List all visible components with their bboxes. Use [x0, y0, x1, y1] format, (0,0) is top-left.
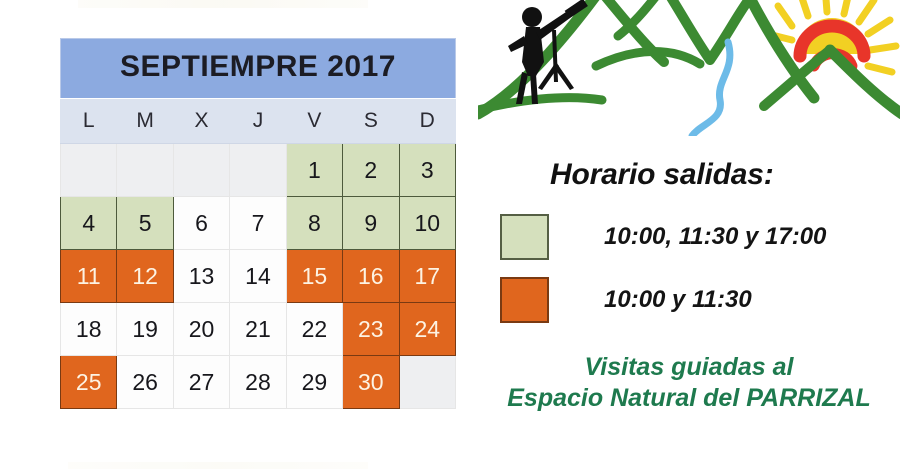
poster-root: SEPTIEMPRE 2017 LMXJVSD 1234567891011121… — [0, 0, 900, 470]
september-calendar: SEPTIEMPRE 2017 LMXJVSD 1234567891011121… — [60, 38, 456, 409]
calendar-day-27[interactable]: 27 — [173, 356, 229, 409]
calendar-day-1[interactable]: 1 — [286, 144, 342, 197]
calendar-week-row: 18192021222324 — [61, 303, 456, 356]
calendar-day-11[interactable]: 11 — [61, 250, 117, 303]
mountains-river-sun-observer-logo — [478, 0, 900, 136]
calendar-day-empty — [230, 144, 286, 197]
legend-label-green: 10:00, 11:30 y 17:00 — [604, 223, 826, 251]
poster-caption: Visitas guiadas al Espacio Natural del P… — [478, 352, 900, 413]
calendar-day-empty — [173, 144, 229, 197]
calendar-day-5[interactable]: 5 — [117, 197, 173, 250]
calendar-day-13[interactable]: 13 — [173, 250, 229, 303]
calendar-day-21[interactable]: 21 — [230, 303, 286, 356]
weekday-header-x: X — [173, 99, 229, 144]
legend-item-orange: 10:00 y 11:30 — [500, 277, 752, 323]
calendar-week-row: 45678910 — [61, 197, 456, 250]
calendar-day-20[interactable]: 20 — [173, 303, 229, 356]
calendar-day-8[interactable]: 8 — [286, 197, 342, 250]
calendar-day-7[interactable]: 7 — [230, 197, 286, 250]
calendar-day-empty — [399, 356, 455, 409]
calendar-day-24[interactable]: 24 — [399, 303, 455, 356]
calendar-day-26[interactable]: 26 — [117, 356, 173, 409]
top-edge-artifact — [78, 0, 368, 8]
legend-swatch-green — [500, 214, 549, 260]
bottom-edge-artifact — [68, 462, 368, 469]
calendar-week-row: 11121314151617 — [61, 250, 456, 303]
calendar-day-29[interactable]: 29 — [286, 356, 342, 409]
calendar-day-18[interactable]: 18 — [61, 303, 117, 356]
calendar-day-30[interactable]: 30 — [343, 356, 399, 409]
calendar-day-empty — [117, 144, 173, 197]
calendar-day-empty — [61, 144, 117, 197]
weekday-header-v: V — [286, 99, 342, 144]
calendar-day-28[interactable]: 28 — [230, 356, 286, 409]
calendar-day-10[interactable]: 10 — [399, 197, 455, 250]
calendar-day-6[interactable]: 6 — [173, 197, 229, 250]
calendar-day-23[interactable]: 23 — [343, 303, 399, 356]
weekday-header-s: S — [343, 99, 399, 144]
weekday-header-d: D — [399, 99, 455, 144]
legend-label-orange: 10:00 y 11:30 — [604, 286, 752, 314]
calendar-day-4[interactable]: 4 — [61, 197, 117, 250]
calendar-day-14[interactable]: 14 — [230, 250, 286, 303]
calendar-day-22[interactable]: 22 — [286, 303, 342, 356]
weekday-header-j: J — [230, 99, 286, 144]
weekday-header-row: LMXJVSD — [61, 99, 456, 144]
schedule-heading: Horario salidas: — [550, 158, 774, 192]
weekday-header-m: M — [117, 99, 173, 144]
calendar-day-25[interactable]: 25 — [61, 356, 117, 409]
legend-item-green: 10:00, 11:30 y 17:00 — [500, 214, 826, 260]
legend-swatch-orange — [500, 277, 549, 323]
calendar-week-row: 252627282930 — [61, 356, 456, 409]
calendar-title: SEPTIEMPRE 2017 — [61, 39, 456, 99]
calendar-day-19[interactable]: 19 — [117, 303, 173, 356]
calendar-day-9[interactable]: 9 — [343, 197, 399, 250]
calendar-body: 1234567891011121314151617181920212223242… — [61, 144, 456, 409]
calendar-week-row: 123 — [61, 144, 456, 197]
calendar-day-3[interactable]: 3 — [399, 144, 455, 197]
calendar-day-12[interactable]: 12 — [117, 250, 173, 303]
calendar-day-17[interactable]: 17 — [399, 250, 455, 303]
calendar-day-15[interactable]: 15 — [286, 250, 342, 303]
calendar-day-16[interactable]: 16 — [343, 250, 399, 303]
calendar-title-row: SEPTIEMPRE 2017 — [61, 39, 456, 99]
weekday-header-l: L — [61, 99, 117, 144]
calendar-day-2[interactable]: 2 — [343, 144, 399, 197]
